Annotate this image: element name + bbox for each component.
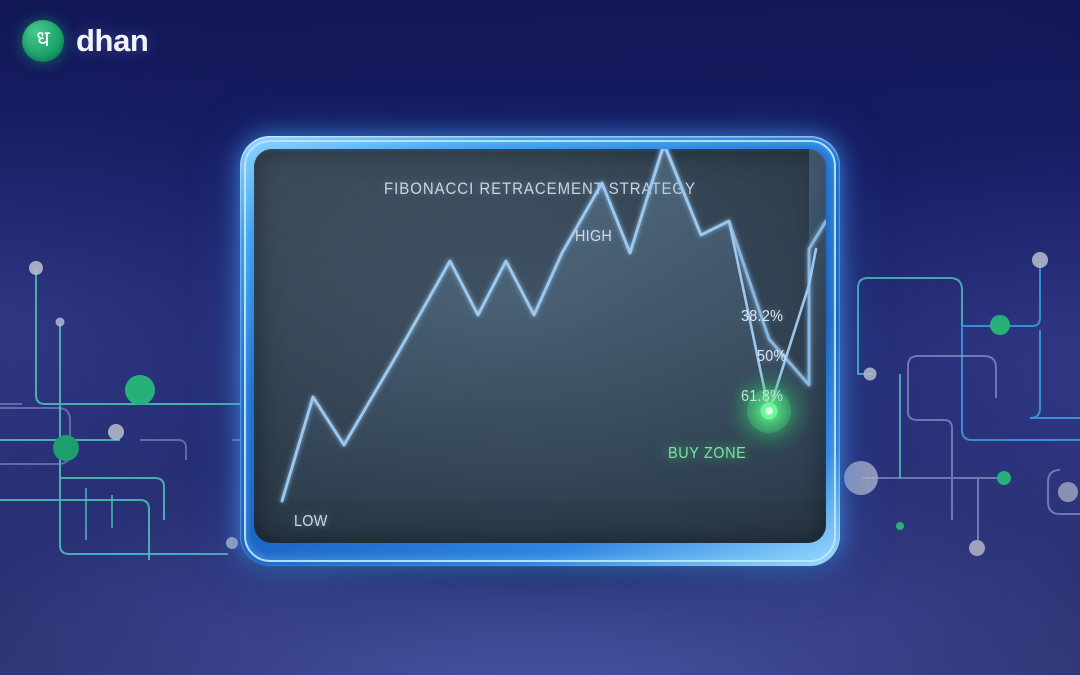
tablet-screen[interactable]: FIBONACCI RETRACEMENT STRATEGY xyxy=(254,149,826,543)
brand-logo[interactable]: ध dhan xyxy=(22,20,148,62)
level-label-618: 61.8% xyxy=(741,388,783,406)
tablet-bezel: FIBONACCI RETRACEMENT STRATEGY xyxy=(240,136,840,566)
level-label-382: 38.2% xyxy=(741,308,783,326)
dhan-devanagari-glyph-icon: ध xyxy=(22,20,64,62)
level-label-high: HIGH xyxy=(575,228,612,246)
screen-glass-reflection xyxy=(254,149,826,543)
brand-name: dhan xyxy=(76,23,148,59)
level-label-low: LOW xyxy=(294,513,328,531)
tablet-device: FIBONACCI RETRACEMENT STRATEGY xyxy=(240,136,840,566)
level-label-50: 50% xyxy=(757,348,787,366)
buy-zone-label: BUY ZONE xyxy=(668,445,746,463)
